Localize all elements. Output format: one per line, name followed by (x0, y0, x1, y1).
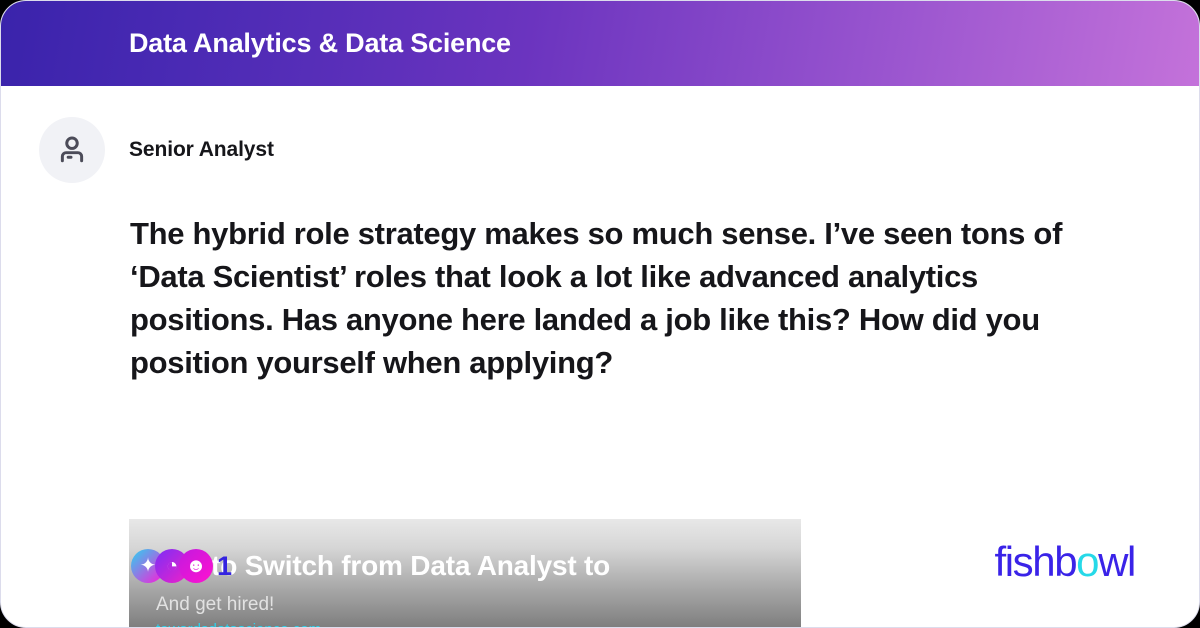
brand-name-part1: fishb (994, 538, 1076, 585)
link-preview-subtitle: And get hired! (156, 595, 274, 614)
smile-icon[interactable]: ☻ (179, 549, 213, 583)
person-icon (55, 133, 89, 167)
link-preview-card[interactable]: How to Switch from Data Analyst to And g… (129, 519, 801, 628)
brand-name-accent: o (1076, 538, 1098, 585)
brand-name-part2: wl (1098, 538, 1135, 585)
author-row: Senior Analyst (39, 117, 274, 183)
page-title: Data Analytics & Data Science (129, 30, 511, 57)
reaction-count: 1 (217, 553, 232, 580)
author-name: Senior Analyst (129, 138, 274, 162)
post-card: Data Analytics & Data Science Senior Ana… (0, 0, 1200, 628)
post-body-text: The hybrid role strategy makes so much s… (130, 212, 1120, 384)
link-preview-url[interactable]: towardsdatascience.com (156, 622, 321, 628)
header-bar: Data Analytics & Data Science (1, 1, 1200, 86)
reaction-group[interactable]: ✦ ◔ ☻ 1 (131, 549, 232, 583)
avatar (39, 117, 105, 183)
link-preview-title: How to Switch from Data Analyst to (145, 549, 801, 583)
fishbowl-logo: fishbowl (994, 541, 1135, 583)
